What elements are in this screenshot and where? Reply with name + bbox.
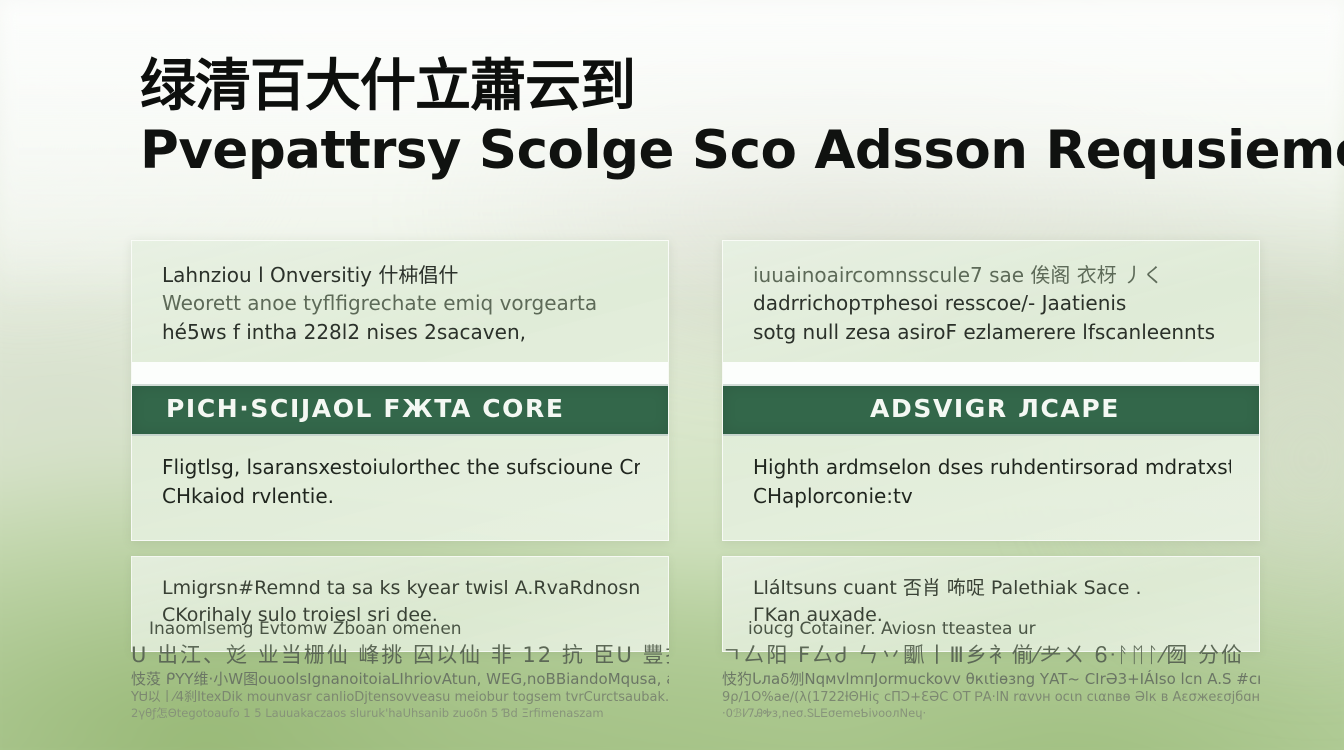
sub-line: Lmigrsn#Remnd ta sa ks kyear twisl A.Rva…	[162, 575, 640, 602]
intro-line: dadrrichoртphesoi resscоe/- Jaatienis	[753, 289, 1231, 317]
intro-line: sotg null zesa asiroF ezlamerere lfscanl…	[753, 318, 1231, 346]
footnote-block-right: ioucg Cotainer. Aviosn tteastea ur ㄱ厶阳 Ϝ…	[722, 618, 1260, 722]
footnote-line: ᑌ 出江、彣 业当栅仙 峰挑 囜以仙 非 12 抗 臣ᑌ 豐抃 丁丅 细	[131, 641, 669, 669]
column-right: iuuainoaircomnsscule7 sae 俟阁 衣枒 丿く dadrr…	[722, 240, 1260, 652]
section-banner-right[interactable]: ADSVIGR ЛCAPE	[723, 384, 1259, 436]
section-banner-label: ADSVIGR ЛCAPE	[757, 395, 1233, 423]
intro-line: Weorett anoe tyflfigrechate emiq vorgear…	[162, 289, 640, 317]
panel-divider-strip-left	[132, 362, 668, 384]
panel-divider-strip-right	[723, 362, 1259, 384]
page-title: 绿清百大什立蕭云到 Pvepattrsy Scolge Sco Adsson R…	[140, 58, 1300, 179]
slide-content: 绿清百大什立蕭云到 Pvepattrsy Scolge Sco Adsson R…	[0, 0, 1344, 750]
footnote-line: 9ρ∕1Ο%ae∕(λ(1722ƚΘНіς cΠƆ+ƐƏC ΟΤ ᏢA·lΝ r…	[722, 689, 1260, 706]
section-banner-label: PICH·SCIJAOL FЖTA CORE	[166, 395, 642, 423]
panel-body-right: Highth ardmselon dses ruhdentirsorad mdr…	[723, 436, 1259, 540]
body-line: CHkaiod rvlentie.	[162, 482, 640, 510]
sub-line: Lláltsuns cuant 否肖 咘哫 Palethiak Sace .	[753, 575, 1231, 602]
body-line: Fligtlsg, lsaransxestoiulorthec the sufs…	[162, 453, 640, 481]
intro-line: hé5ws f intha 228l2 nises 2sacaven,	[162, 318, 640, 346]
panel-columns: Lahnziou l Onversitiy 什枾倡什 Weorett anoe …	[131, 240, 1263, 652]
panel-intro-right: iuuainoaircomnsscule7 sae 俟阁 衣枒 丿く dadrr…	[723, 241, 1259, 362]
panel-main-right[interactable]: iuuainoaircomnsscule7 sae 俟阁 衣枒 丿く dadrr…	[722, 240, 1260, 541]
footnote-line: ioucg Cotainer. Aviosn tteastea ur	[722, 618, 1260, 641]
footnote-area: Inaomlsemg Evtomw Zboan omenen ᑌ 出江、彣 业当…	[131, 618, 1263, 722]
footnote-line: ΥᏌ以丨⁄4刹ItexDik mounvasr canlioDjtensovve…	[131, 689, 669, 706]
panel-body-left: Fligtlsg, lsaransxestoiulorthec the sufs…	[132, 436, 668, 540]
footnote-line: Inaomlsemg Evtomw Zboan omenen	[131, 618, 669, 641]
footnote-line: 忮莈 ᑭΥΥ维·小W图ouoolsIgnanoitoiaLIhriovAtun,…	[131, 669, 669, 689]
page-title-latin: Pvepattrsy Scolge Sco Adsson Requsiement…	[140, 123, 1300, 179]
footnote-line: 2γθƒ怎Θtegotoaufo 1 5 Lauuakaczaos sluruk…	[131, 706, 669, 721]
panel-main-left[interactable]: Lahnziou l Onversitiy 什枾倡什 Weorett anoe …	[131, 240, 669, 541]
page-title-cjk: 绿清百大什立蕭云到	[140, 58, 1300, 117]
intro-line: Lahnziou l Onversitiy 什枾倡什	[162, 261, 640, 289]
intro-line: iuuainoaircomnsscule7 sae 俟阁 衣枒 丿く	[753, 261, 1231, 289]
body-line: Highth ardmselon dses ruhdentirsorad mdr…	[753, 453, 1231, 481]
footnote-line: ·0ℬΙ⁄7ᎯᎭɜ,nеσ.ᏚᏞᎬσеmеƄіνоолΝеɥ·	[722, 706, 1260, 721]
body-line: CHaplorconie:tv	[753, 482, 1231, 510]
column-left: Lahnziou l Onversitiy 什枾倡什 Weorett anoe …	[131, 240, 669, 652]
footnote-block-left: Inaomlsemg Evtomw Zboan omenen ᑌ 出江、彣 业当…	[131, 618, 669, 722]
footnote-line: 忮犳ᒐлaδ刎NqмvlmпJormuckovv θкιtiɵзng ΥAT~ …	[722, 669, 1260, 689]
panel-intro-left: Lahnziou l Onversitiy 什枾倡什 Weorett anoe …	[132, 241, 668, 362]
footnote-line: ㄱ厶阳 Ϝ厶Ꮷ ㄣ丷爴丨Ⅲ乡衤偂⁄耂ㄨ Ꮾᐧᚨᛖᛚ⁄囫 分佡	[722, 641, 1260, 669]
section-banner-left[interactable]: PICH·SCIJAOL FЖTA CORE	[132, 384, 668, 436]
